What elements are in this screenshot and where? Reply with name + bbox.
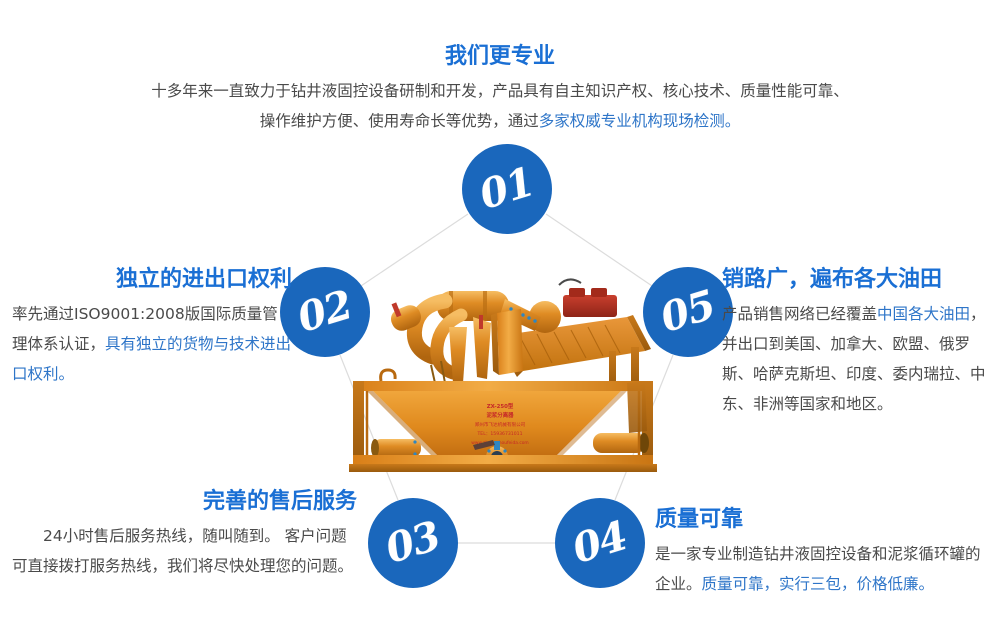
plain-text: 产品销售网络已经覆盖 xyxy=(722,305,877,323)
feature-title-02: 独立的进出口权利 xyxy=(12,265,292,295)
vibrator-motor xyxy=(563,295,617,317)
plain-text: 十多年来一直致力于钻井液固控设备研制和开发，产品具有自主知识产权、核心技术、质量… xyxy=(151,82,849,130)
svg-text:泥浆分离器: 泥浆分离器 xyxy=(487,411,515,419)
svg-text:ZX-250型: ZX-250型 xyxy=(487,402,514,410)
cyclone-piping-manifold xyxy=(388,291,541,383)
step-number-05: 05 xyxy=(656,285,719,339)
svg-text:TEL：15936731011: TEL：15936731011 xyxy=(476,431,522,437)
mud-tank-body: ZX-250型 泥浆分离器 郑州市飞达机械有限公司 TEL：1593673101… xyxy=(349,370,657,472)
plain-text: 24小时售后服务热线，随叫随到。 客户问题可直接拨打服务热线，我们将尽快处理您的… xyxy=(12,527,353,575)
feature-block-05: 销路广，遍布各大油田 产品销售网络已经覆盖中国各大油田，并出口到美国、加拿大、欧… xyxy=(722,265,994,419)
infographic-canvas: ZX-250型 泥浆分离器 郑州市飞达机械有限公司 TEL：1593673101… xyxy=(0,0,1000,642)
product-photo-mud-separator: ZX-250型 泥浆分离器 郑州市飞达机械有限公司 TEL：1593673101… xyxy=(345,255,665,480)
feature-block-03: 完善的售后服务 24小时售后服务热线，随叫随到。 客户问题可直接拨打服务热线，我… xyxy=(12,487,357,581)
feature-block-04: 质量可靠 是一家专业制造钻井液固控设备和泥浆循环罐的企业。质量可靠，实行三包，价… xyxy=(655,505,991,599)
step-number-01: 01 xyxy=(475,162,538,216)
feature-body-03: 24小时售后服务热线，随叫随到。 客户问题可直接拨打服务热线，我们将尽快处理您的… xyxy=(12,521,357,581)
step-circle-01[interactable]: 01 xyxy=(462,144,552,234)
step-number-03: 03 xyxy=(381,516,444,570)
feature-body-02: 率先通过ISO9001:2008版国际质量管理体系认证，具有独立的货物与技术进出… xyxy=(12,299,292,389)
feature-block-02: 独立的进出口权利 率先通过ISO9001:2008版国际质量管理体系认证，具有独… xyxy=(12,265,292,389)
feature-title-04: 质量可靠 xyxy=(655,505,991,535)
lift-hook-left xyxy=(381,370,395,381)
feature-body-04: 是一家专业制造钻井液固控设备和泥浆循环罐的企业。质量可靠，实行三包，价格低廉。 xyxy=(655,539,991,599)
highlighted-text: 多家权威专业机构现场检测。 xyxy=(539,112,741,130)
highlighted-text: 质量可靠，实行三包，价格低廉。 xyxy=(702,575,935,593)
right-outlet-pipe xyxy=(593,433,649,453)
lifting-hook xyxy=(559,279,581,285)
left-outlet-pipe xyxy=(371,439,421,457)
feature-body-05: 产品销售网络已经覆盖中国各大油田，并出口到美国、加拿大、欧盟、俄罗斯、哈萨克斯坦… xyxy=(722,299,994,419)
feature-title-01: 我们更专业 xyxy=(150,42,850,72)
step-number-04: 04 xyxy=(568,516,631,570)
highlighted-text: 中国各大油田 xyxy=(877,305,970,323)
feature-title-03: 完善的售后服务 xyxy=(12,487,357,517)
feature-block-01: 我们更专业 十多年来一直致力于钻井液固控设备研制和开发，产品具有自主知识产权、核… xyxy=(150,42,850,136)
svg-text:郑州市飞达机械有限公司: 郑州市飞达机械有限公司 xyxy=(475,421,526,428)
step-circle-05[interactable]: 05 xyxy=(643,267,733,357)
feature-body-01: 十多年来一直致力于钻井液固控设备研制和开发，产品具有自主知识产权、核心技术、质量… xyxy=(150,76,850,136)
step-circle-04[interactable]: 04 xyxy=(555,498,645,588)
step-number-02: 02 xyxy=(293,285,356,339)
feature-title-05: 销路广，遍布各大油田 xyxy=(722,265,994,295)
step-circle-02[interactable]: 02 xyxy=(280,267,370,357)
step-circle-03[interactable]: 03 xyxy=(368,498,458,588)
